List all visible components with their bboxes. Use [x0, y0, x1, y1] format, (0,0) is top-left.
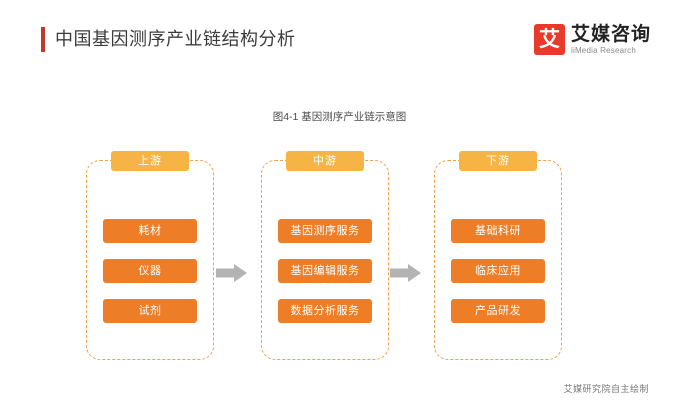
- chain-node: 基因测序服务: [278, 219, 372, 243]
- source-note: 艾媒研究院自主绘制: [563, 382, 649, 395]
- chain-node: 试剂: [103, 299, 197, 323]
- slide-header: 中国基因测序产业链结构分析 艾 艾媒咨询 iiMedia Research: [0, 0, 679, 78]
- value-chain-diagram: 上游 耗材 仪器 试剂 中游 基因测序服务 基因编辑服务 数据分析服务 下游: [0, 160, 679, 375]
- slide-page: 中国基因测序产业链结构分析 艾 艾媒咨询 iiMedia Research 图4…: [0, 0, 679, 407]
- brand-logo: 艾 艾媒咨询 iiMedia Research: [534, 24, 651, 58]
- figure-caption: 图4-1 基因测序产业链示意图: [0, 109, 679, 124]
- logo-name-en: iiMedia Research: [571, 46, 651, 56]
- chain-column-upstream: 上游 耗材 仪器 试剂: [86, 160, 214, 360]
- logo-mark-icon: 艾: [534, 24, 565, 55]
- chain-node: 仪器: [103, 259, 197, 283]
- chain-node: 产品研发: [451, 299, 545, 323]
- logo-name-cn: 艾媒咨询: [571, 24, 651, 45]
- chain-column-header: 上游: [111, 151, 189, 171]
- chain-node: 数据分析服务: [278, 299, 372, 323]
- chain-column-header: 中游: [286, 151, 364, 171]
- chain-column-header: 下游: [459, 151, 537, 171]
- chain-column-midstream: 中游 基因测序服务 基因编辑服务 数据分析服务: [261, 160, 389, 360]
- arrow-right-icon: [390, 264, 422, 282]
- arrow-right-icon: [216, 264, 248, 282]
- chain-node: 基因编辑服务: [278, 259, 372, 283]
- chain-column-downstream: 下游 基础科研 临床应用 产品研发: [434, 160, 562, 360]
- chain-node: 临床应用: [451, 259, 545, 283]
- page-title: 中国基因测序产业链结构分析: [55, 25, 296, 51]
- title-accent-bar: [41, 27, 45, 52]
- chain-node: 基础科研: [451, 219, 545, 243]
- logo-text: 艾媒咨询 iiMedia Research: [571, 24, 651, 56]
- chain-node: 耗材: [103, 219, 197, 243]
